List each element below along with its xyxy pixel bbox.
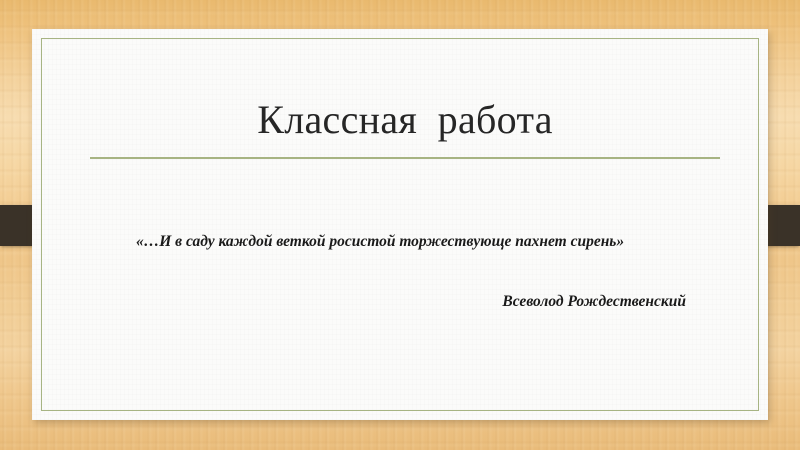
slide-title: Классная работа xyxy=(90,96,720,144)
quote-block: «…И в саду каждой веткой росистой торжес… xyxy=(130,229,686,254)
quote-attribution: Всеволод Рождественский xyxy=(130,290,686,314)
slide-content: Классная работа «…И в саду каждой веткой… xyxy=(0,0,800,450)
presentation-slide: Классная работа «…И в саду каждой веткой… xyxy=(0,0,800,450)
title-divider-rule xyxy=(90,157,720,159)
quote-text: «…И в саду каждой веткой росистой торжес… xyxy=(130,229,686,254)
